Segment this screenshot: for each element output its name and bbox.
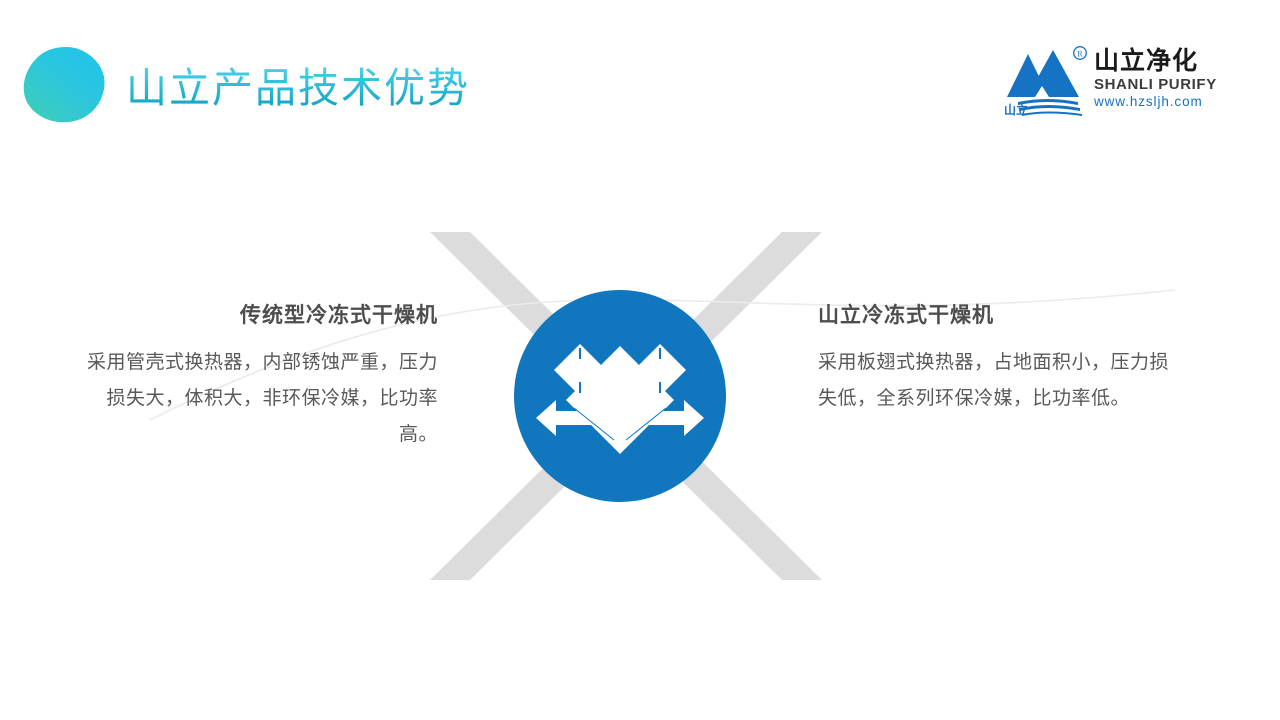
panel-left-heading: 传统型冷冻式干燥机 [74, 300, 438, 330]
compare-exchange-diamond-arrows-icon [514, 290, 726, 502]
panel-left-body: 采用管壳式换热器，内部锈蚀严重，压力损失大，体积大，非环保冷媒，比功率高。 [74, 344, 438, 452]
comparison-panel-right: 山立冷冻式干燥机 采用板翅式换热器，占地面积小，压力损失低，全系列环保冷媒，比功… [818, 300, 1182, 416]
svg-text:R: R [1077, 49, 1083, 58]
slide-header: 山立产品技术优势 R 山立 [0, 0, 1280, 150]
slide-root: 山立产品技术优势 R 山立 [0, 0, 1280, 720]
brand-wordmark: 山立净化 SHANLI PURIFY www.hzsljh.com [1094, 46, 1226, 110]
brand-logo: R 山立 山立净化 SHANLI PURIFY www.hzsljh.com [1002, 44, 1222, 126]
brand-website-text[interactable]: www.hzsljh.com [1094, 93, 1226, 110]
comparison-panel-left: 传统型冷冻式干燥机 采用管壳式换热器，内部锈蚀严重，压力损失大，体积大，非环保冷… [74, 300, 438, 452]
shanli-mountain-logo-icon: R 山立 [1002, 44, 1088, 118]
brand-name-cn: 山立净化 [1094, 46, 1226, 76]
panel-right-body: 采用板翅式换热器，占地面积小，压力损失低，全系列环保冷媒，比功率低。 [818, 344, 1182, 416]
svg-text:山立: 山立 [1004, 102, 1028, 117]
brand-name-en: SHANLI PURIFY [1094, 76, 1226, 93]
page-title: 山立产品技术优势 [126, 60, 470, 116]
panel-right-heading: 山立冷冻式干燥机 [818, 300, 1182, 330]
blob-shape-icon [22, 46, 106, 124]
